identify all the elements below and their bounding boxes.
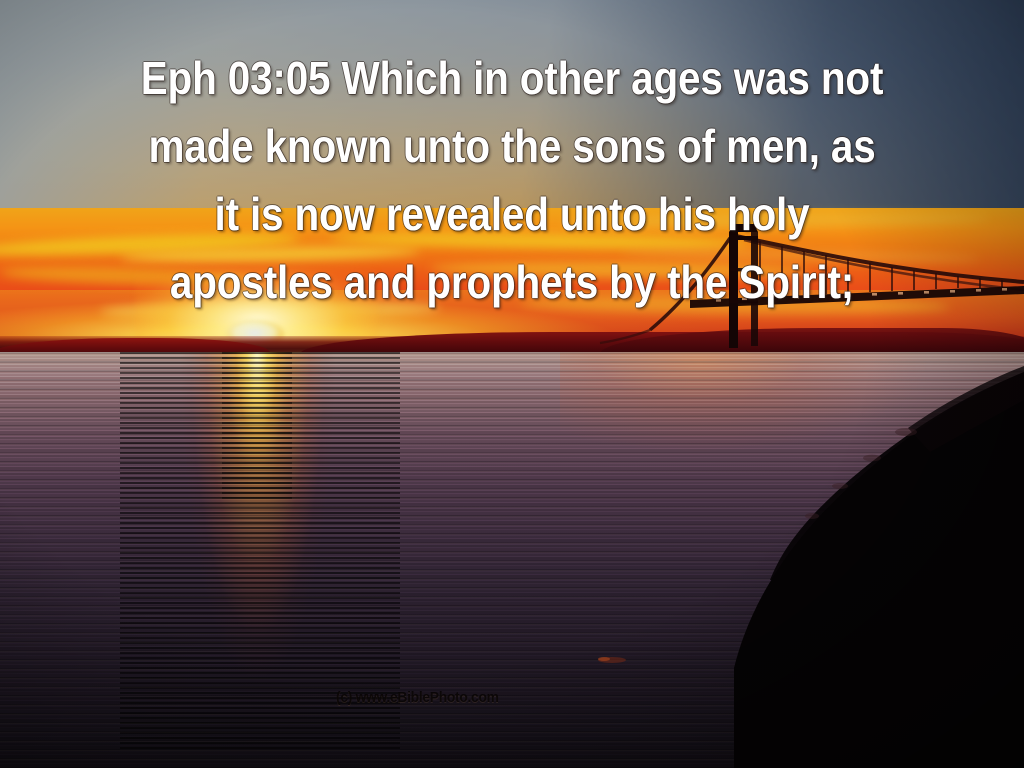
sunset-photograph xyxy=(0,0,1024,768)
dark-shoreline xyxy=(0,0,1024,768)
scripture-photo-canvas: Eph 03:05 Which in other ages was not ma… xyxy=(0,0,1024,768)
